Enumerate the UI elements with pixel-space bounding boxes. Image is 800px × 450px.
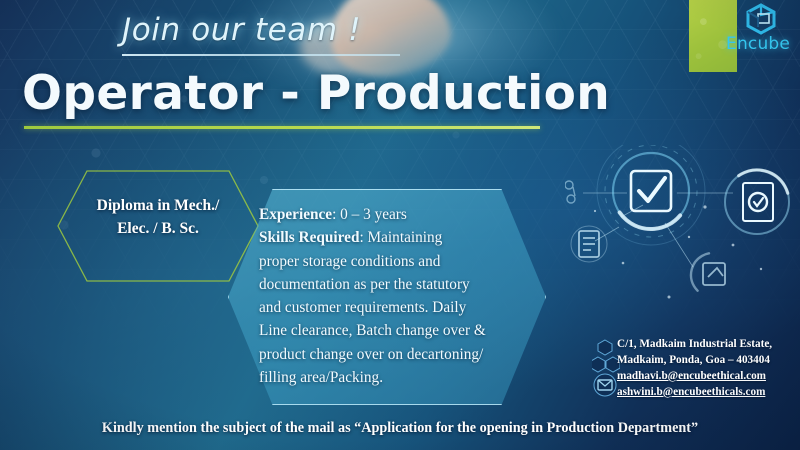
skills-line-4: Line clearance, Batch change over & bbox=[259, 319, 521, 342]
skills-row: Skills Required: Maintaining bbox=[259, 226, 521, 249]
job-details-panel: Experience: 0 – 3 years Skills Required:… bbox=[228, 189, 546, 405]
logo-text: Encube bbox=[726, 34, 800, 54]
tagline-underline bbox=[122, 54, 400, 56]
checkbox-icon bbox=[631, 171, 671, 211]
envelope-icon bbox=[594, 374, 616, 396]
recruitment-poster: Encube Join our team ! Operator - Produc… bbox=[0, 0, 800, 450]
experience-row: Experience: 0 – 3 years bbox=[259, 203, 521, 226]
hexagon-cube-icon bbox=[744, 3, 778, 35]
contact-icons bbox=[592, 339, 620, 397]
skills-line-5: product change over on decartoning/ bbox=[259, 343, 521, 366]
experience-label: Experience bbox=[259, 206, 332, 223]
skills-line-6: filling area/Packing. bbox=[259, 366, 521, 389]
skills-line-3: and customer requirements. Daily bbox=[259, 296, 521, 319]
skills-value: : Maintaining bbox=[359, 229, 442, 246]
skills-line-2: documentation as per the statutory bbox=[259, 273, 521, 296]
tech-hud-graphic bbox=[565, 145, 800, 340]
network-icon bbox=[565, 181, 575, 203]
address-line-2: Madkaim, Ponda, Goa – 403404 bbox=[617, 353, 800, 369]
email-link-2[interactable]: ashwini.b@encubeethicals.com bbox=[617, 385, 800, 401]
skills-label: Skills Required bbox=[259, 229, 359, 246]
upload-icon bbox=[683, 245, 743, 305]
email-link-1[interactable]: madhavi.b@encubeethical.com bbox=[617, 369, 800, 385]
contact-text: C/1, Madkaim Industrial Estate, Madkaim,… bbox=[617, 337, 800, 401]
page-title: Operator - Production bbox=[22, 66, 622, 124]
contact-block: C/1, Madkaim Industrial Estate, Madkaim,… bbox=[592, 337, 798, 401]
address-line-1: C/1, Madkaim Industrial Estate, bbox=[617, 337, 800, 353]
experience-value: : 0 – 3 years bbox=[332, 206, 407, 223]
job-details-text: Experience: 0 – 3 years Skills Required:… bbox=[259, 203, 521, 389]
tagline: Join our team ! bbox=[122, 12, 392, 56]
file-icon-small bbox=[571, 226, 607, 262]
title-underline bbox=[24, 126, 540, 129]
brand-logo: Encube bbox=[726, 2, 800, 66]
document-check-badge bbox=[713, 158, 800, 245]
footer-note: Kindly mention the subject of the mail a… bbox=[0, 420, 800, 437]
cubes-icon bbox=[592, 340, 620, 372]
skills-line-1: proper storage conditions and bbox=[259, 250, 521, 273]
